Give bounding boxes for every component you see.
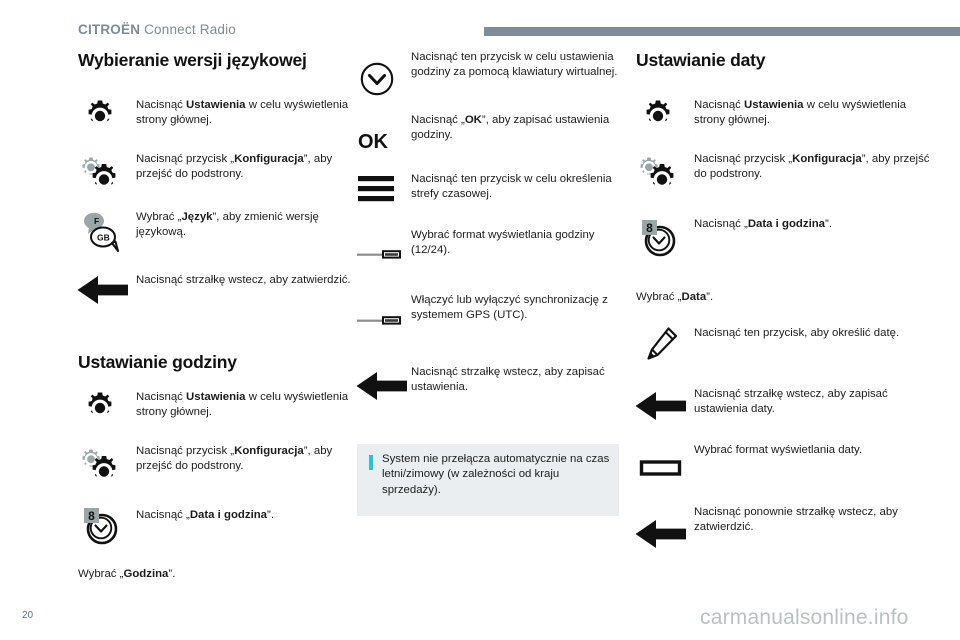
step-text: Nacisnąć Ustawienia w celu wyświetlenia … bbox=[136, 98, 351, 128]
step-text: Nacisnąć przycisk „Konfiguracja”, aby pr… bbox=[694, 152, 934, 182]
language-code-top: F bbox=[94, 216, 99, 226]
settings-gear-icon bbox=[83, 391, 117, 425]
slider-toggle-icon bbox=[357, 248, 403, 262]
step-text: Nacisnąć ten przycisk w celu określenia … bbox=[411, 172, 629, 202]
step-text: Wybrać format wyświetlania godziny (12/2… bbox=[411, 228, 631, 258]
section-note-date: Wybrać „Data”. bbox=[636, 290, 886, 305]
configuration-gears-icon bbox=[78, 447, 124, 489]
step-text: Nacisnąć „Data i godzina”. bbox=[136, 508, 361, 523]
pencil-icon bbox=[646, 327, 680, 365]
back-arrow-icon bbox=[634, 516, 690, 552]
settings-gear-icon bbox=[641, 99, 675, 133]
rectangle-outline-icon bbox=[640, 460, 684, 478]
step-text: Nacisnąć Ustawienia w celu wyświetlenia … bbox=[694, 98, 909, 128]
section-note-time: Wybrać „Godzina”. bbox=[78, 567, 328, 582]
manual-page: CITROËN Connect Radio Wybieranie wersji … bbox=[0, 0, 960, 640]
step-text: Nacisnąć Ustawienia w celu wyświetlenia … bbox=[136, 390, 351, 420]
step-text: Nacisnąć „Data i godzina”. bbox=[694, 217, 919, 232]
date-time-clock-icon: 8 bbox=[638, 218, 682, 260]
step-text: Nacisnąć ponownie strzałkę wstecz, aby z… bbox=[694, 505, 934, 535]
step-text: Nacisnąć ten przycisk w celu ustawienia … bbox=[411, 50, 629, 80]
ok-label: OK bbox=[358, 131, 389, 153]
watermark: carmanualsonline.info bbox=[700, 606, 909, 630]
settings-gear-icon bbox=[83, 99, 117, 133]
step-text: Wybrać „Język”, aby zmienić wersję język… bbox=[136, 210, 361, 240]
slider-toggle-icon bbox=[357, 314, 403, 328]
list-lines-icon bbox=[358, 175, 398, 205]
language-bubble-icon: F GB bbox=[78, 212, 128, 256]
step-text: Nacisnąć przycisk „Konfiguracja”, aby pr… bbox=[136, 444, 361, 474]
section-title-date: Ustawianie daty bbox=[636, 50, 765, 71]
back-arrow-icon bbox=[76, 272, 132, 308]
info-callout: System nie przełącza automatycznie na cz… bbox=[357, 444, 619, 516]
brand-prefix: CITROËN bbox=[78, 22, 140, 37]
header-rule bbox=[484, 27, 960, 36]
back-arrow-icon bbox=[634, 388, 690, 424]
step-text: Nacisnąć „OK”, aby zapisać ustawienia go… bbox=[411, 113, 629, 143]
clock-badge-number: 8 bbox=[88, 509, 95, 523]
chevron-down-circle-icon bbox=[360, 62, 394, 96]
clock-badge-number: 8 bbox=[646, 221, 653, 235]
section-title-language: Wybieranie wersji językowej bbox=[78, 50, 307, 71]
brand-title: CITROËN Connect Radio bbox=[78, 22, 236, 37]
configuration-gears-icon bbox=[78, 155, 124, 197]
info-bar-icon bbox=[369, 455, 373, 470]
step-text: Nacisnąć strzałkę wstecz, aby zatwierdzi… bbox=[136, 273, 361, 288]
step-text: Włączyć lub wyłączyć synchronizację z sy… bbox=[411, 293, 631, 323]
brand-suffix: Connect Radio bbox=[140, 22, 236, 37]
step-text: Nacisnąć ten przycisk, aby określić datę… bbox=[694, 326, 929, 341]
ok-button-icon: OK bbox=[358, 128, 402, 154]
step-text: Nacisnąć strzałkę wstecz, aby zapisać us… bbox=[411, 365, 631, 395]
back-arrow-icon bbox=[355, 368, 411, 404]
language-code-bottom: GB bbox=[97, 233, 110, 243]
date-time-clock-icon: 8 bbox=[80, 506, 124, 548]
step-text: Nacisnąć przycisk „Konfiguracja”, aby pr… bbox=[136, 152, 361, 182]
configuration-gears-icon bbox=[636, 155, 682, 197]
page-number: 20 bbox=[22, 610, 33, 621]
step-text: Nacisnąć strzałkę wstecz, aby zapisać us… bbox=[694, 387, 934, 417]
page-header: CITROËN Connect Radio bbox=[0, 0, 960, 42]
info-text: System nie przełącza automatycznie na cz… bbox=[382, 452, 610, 498]
section-title-time: Ustawianie godziny bbox=[78, 352, 237, 373]
step-text: Wybrać format wyświetlania daty. bbox=[694, 443, 939, 458]
